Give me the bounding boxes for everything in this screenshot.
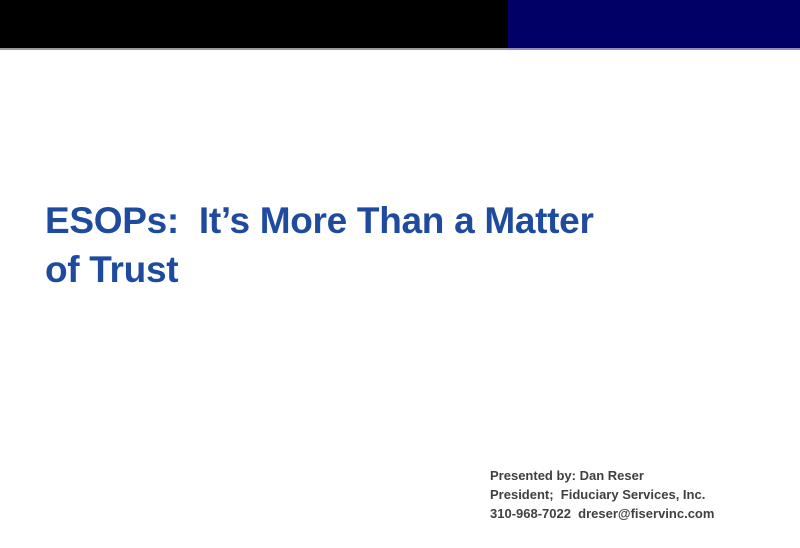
slide-title-line-2: of Trust: [45, 245, 625, 294]
presenter-role-line: President; Fiduciary Services, Inc.: [490, 485, 790, 504]
top-bar-navy-segment: [508, 0, 800, 48]
top-decorative-bar: [0, 0, 800, 48]
slide-title-line-1: ESOPs: It’s More Than a Matter: [45, 196, 625, 245]
slide-title: ESOPs: It’s More Than a Matter of Trust: [45, 196, 625, 294]
presenter-info: Presented by: Dan Reser President; Fiduc…: [490, 466, 790, 523]
title-slide: ESOPs: It’s More Than a Matter of Trust …: [0, 0, 800, 548]
presenter-contact-line: 310-968-7022 dreser@fiservinc.com: [490, 504, 790, 523]
top-bar-black-segment: [0, 0, 508, 48]
top-bar-rule-navy: [508, 48, 800, 50]
presenter-name-line: Presented by: Dan Reser: [490, 466, 790, 485]
